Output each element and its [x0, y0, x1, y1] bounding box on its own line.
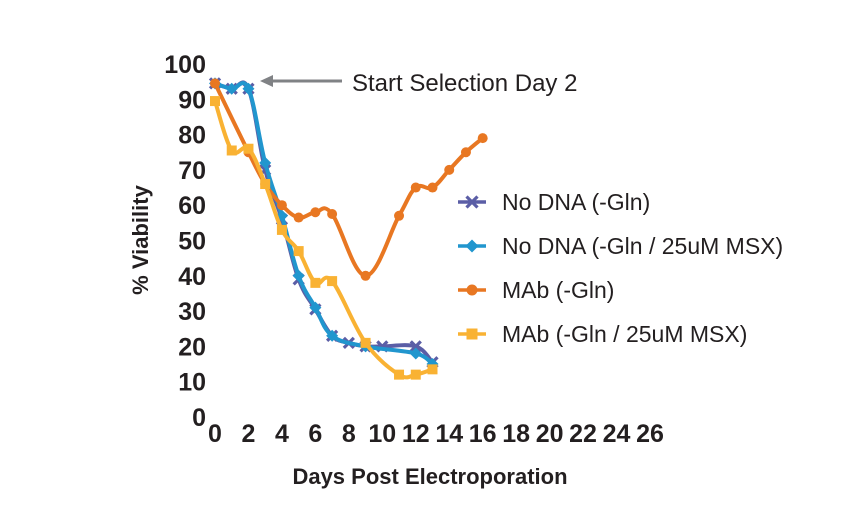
- data-point-marker: [394, 211, 404, 221]
- x-tick-label: 4: [275, 420, 289, 448]
- y-tick-label: 0: [192, 404, 206, 432]
- annotation-label: Start Selection Day 2: [352, 70, 577, 97]
- y-tick-label: 80: [178, 122, 206, 150]
- x-tick-label: 18: [502, 420, 530, 448]
- y-tick-label: 40: [178, 263, 206, 291]
- data-point-marker: [210, 78, 220, 88]
- x-axis-title: Days Post Electroporation: [292, 464, 567, 489]
- data-point-marker: [210, 96, 220, 106]
- data-point-marker: [277, 225, 287, 235]
- x-tick-label: 16: [469, 420, 497, 448]
- data-point-marker: [361, 338, 371, 348]
- legend-label: MAb (-Gln): [502, 277, 614, 303]
- y-tick-label: 20: [178, 333, 206, 361]
- x-tick-label: 26: [636, 420, 664, 448]
- legend-label: No DNA (-Gln): [502, 189, 650, 215]
- y-tick-label: 10: [178, 369, 206, 397]
- data-point-marker: [294, 213, 304, 223]
- y-tick-label: 60: [178, 192, 206, 220]
- data-point-marker: [461, 147, 471, 157]
- data-point-marker: [361, 271, 371, 281]
- viability-line-chart: 0102030405060708090100 02468101214161820…: [0, 0, 865, 529]
- data-point-marker: [260, 179, 270, 189]
- x-tick-label: 22: [569, 420, 597, 448]
- y-tick-label: 50: [178, 228, 206, 256]
- legend-label: MAb (-Gln / 25uM MSX): [502, 321, 747, 347]
- data-point-marker: [327, 276, 337, 286]
- x-tick-label: 6: [308, 420, 322, 448]
- data-point-marker: [444, 165, 454, 175]
- x-tick-label: 14: [435, 420, 463, 448]
- y-tick-label: 30: [178, 298, 206, 326]
- data-point-marker: [243, 144, 253, 154]
- data-point-marker: [467, 285, 478, 296]
- x-tick-label: 24: [603, 420, 631, 448]
- legend-item[interactable]: MAb (-Gln / 25uM MSX): [458, 321, 747, 347]
- x-tick-label: 12: [402, 420, 430, 448]
- legend-item[interactable]: No DNA (-Gln / 25uM MSX): [458, 233, 783, 259]
- legend-label: No DNA (-Gln / 25uM MSX): [502, 233, 783, 259]
- x-tick-label: 8: [342, 420, 356, 448]
- data-point-marker: [310, 207, 320, 217]
- x-tick-label: 20: [536, 420, 564, 448]
- data-point-marker: [394, 370, 404, 380]
- data-point-marker: [277, 200, 287, 210]
- data-point-marker: [467, 329, 478, 340]
- data-point-marker: [428, 364, 438, 374]
- data-point-marker: [227, 145, 237, 155]
- y-axis-title: % Viability: [128, 184, 153, 294]
- y-tick-label: 100: [164, 51, 206, 79]
- chart-figure: 0102030405060708090100 02468101214161820…: [0, 0, 865, 529]
- y-tick-label: 70: [178, 157, 206, 185]
- data-point-marker: [478, 133, 488, 143]
- y-tick-label: 90: [178, 86, 206, 114]
- data-point-marker: [327, 209, 337, 219]
- data-point-marker: [310, 278, 320, 288]
- x-tick-label: 10: [368, 420, 396, 448]
- data-point-marker: [294, 246, 304, 256]
- data-point-marker: [428, 183, 438, 193]
- x-axis-tick-labels: 02468101214161820222426: [208, 420, 664, 448]
- x-tick-label: 0: [208, 420, 222, 448]
- data-point-marker: [411, 183, 421, 193]
- data-point-marker: [411, 370, 421, 380]
- x-tick-label: 2: [242, 420, 256, 448]
